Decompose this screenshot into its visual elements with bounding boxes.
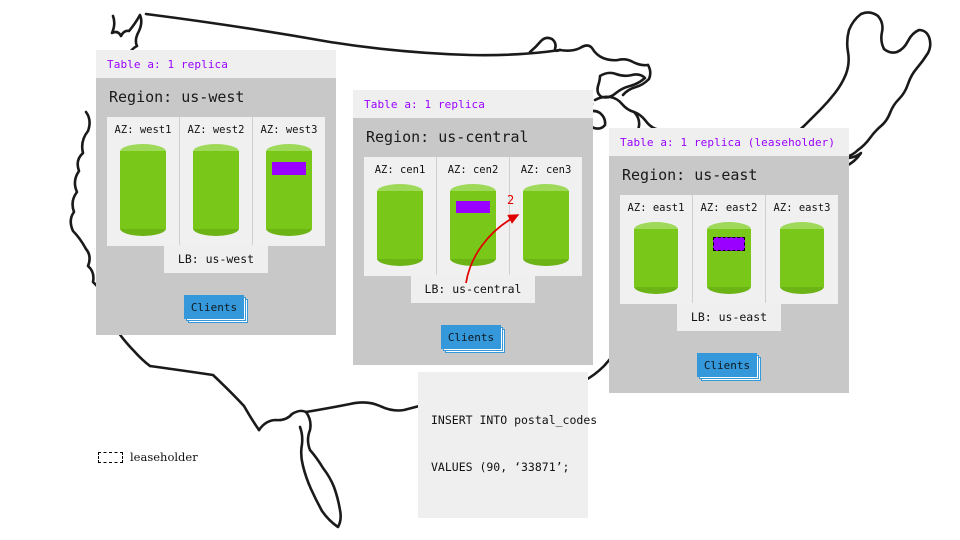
cylinder-body-icon: [193, 151, 239, 229]
leaseholder-swatch-icon: [98, 452, 123, 463]
node-cylinder-cen3[interactable]: [523, 184, 569, 266]
sql-line-2: VALUES (90, ‘33871’;: [431, 460, 575, 476]
sql-statement-box: INSERT INTO postal_codes VALUES (90, ‘33…: [418, 372, 588, 518]
region-body-us-west: Region: us-west AZ: west1 AZ: west2: [96, 78, 336, 335]
clients-wrap-us-east: Clients: [620, 353, 838, 379]
lb-wrap-us-west: LB: us-west: [107, 245, 325, 273]
clients-stack-us-central[interactable]: Clients: [441, 325, 505, 351]
az-cell-west2[interactable]: AZ: west2: [180, 117, 253, 246]
az-label-east3: AZ: east3: [774, 202, 831, 214]
legend-label: leaseholder: [130, 450, 198, 464]
node-cylinder-west2[interactable]: [193, 144, 239, 236]
region-panel-us-central: Table a: 1 replica Region: us-central AZ…: [353, 90, 593, 365]
clients-button-us-central[interactable]: Clients: [441, 325, 501, 349]
lb-wrap-us-east: LB: us-east: [620, 303, 838, 331]
az-label-west1: AZ: west1: [115, 124, 172, 136]
region-body-us-east: Region: us-east AZ: east1 AZ: east2: [609, 156, 849, 393]
az-cell-east1[interactable]: AZ: east1: [620, 195, 693, 304]
cylinder-body-icon: [377, 191, 423, 259]
region-title-us-central: Region: us-central: [366, 128, 582, 146]
region-header-us-west: Table a: 1 replica: [96, 50, 336, 78]
az-label-cen3: AZ: cen3: [521, 164, 572, 176]
az-cell-west3[interactable]: AZ: west3: [253, 117, 325, 246]
leaseholder-marker-east2: [713, 237, 745, 251]
sql-line-1: INSERT INTO postal_codes: [431, 413, 575, 429]
region-panel-us-west: Table a: 1 replica Region: us-west AZ: w…: [96, 50, 336, 335]
az-cell-east2[interactable]: AZ: east2: [693, 195, 766, 304]
table-replica-label-us-west: Table a: 1 replica: [107, 58, 325, 71]
cylinder-body-icon: [780, 229, 824, 287]
table-replica-label-us-east: Table a: 1 replica (leaseholder): [620, 136, 838, 149]
replica-marker-cen2: [456, 201, 489, 213]
az-label-east1: AZ: east1: [628, 202, 685, 214]
replica-marker-west3: [272, 162, 305, 175]
node-cylinder-east2[interactable]: [707, 222, 751, 294]
arrow-step-label: 2: [507, 193, 514, 207]
clients-wrap-us-west: Clients: [107, 295, 325, 321]
node-cylinder-cen2[interactable]: [450, 184, 496, 266]
node-cylinder-west1[interactable]: [120, 144, 166, 236]
clients-button-us-west[interactable]: Clients: [184, 295, 244, 319]
load-balancer-us-west[interactable]: LB: us-west: [164, 245, 268, 273]
legend: leaseholder: [98, 450, 198, 464]
az-cell-west1[interactable]: AZ: west1: [107, 117, 180, 246]
az-label-cen2: AZ: cen2: [448, 164, 499, 176]
clients-button-us-east[interactable]: Clients: [697, 353, 757, 377]
cylinder-body-icon: [634, 229, 678, 287]
lb-wrap-us-central: LB: us-central: [364, 275, 582, 303]
az-label-cen1: AZ: cen1: [375, 164, 426, 176]
region-title-us-east: Region: us-east: [622, 166, 838, 184]
node-cylinder-east1[interactable]: [634, 222, 678, 294]
az-cell-cen2[interactable]: AZ: cen2: [437, 157, 510, 276]
region-title-us-west: Region: us-west: [109, 88, 325, 106]
az-row-us-west: AZ: west1 AZ: west2 AZ: [107, 117, 325, 246]
cylinder-body-icon: [120, 151, 166, 229]
diagram-canvas: Table a: 1 replica Region: us-west AZ: w…: [0, 0, 960, 540]
az-cell-cen1[interactable]: AZ: cen1: [364, 157, 437, 276]
table-replica-label-us-central: Table a: 1 replica: [364, 98, 582, 111]
node-cylinder-east3[interactable]: [780, 222, 824, 294]
clients-stack-us-west[interactable]: Clients: [184, 295, 248, 321]
load-balancer-us-east[interactable]: LB: us-east: [677, 303, 781, 331]
region-header-us-east: Table a: 1 replica (leaseholder): [609, 128, 849, 156]
az-label-west2: AZ: west2: [188, 124, 245, 136]
load-balancer-us-central[interactable]: LB: us-central: [411, 275, 536, 303]
cylinder-body-icon: [523, 191, 569, 259]
az-label-east2: AZ: east2: [701, 202, 758, 214]
az-row-us-central: AZ: cen1 AZ: cen2: [364, 157, 582, 276]
clients-stack-us-east[interactable]: Clients: [697, 353, 761, 379]
az-cell-east3[interactable]: AZ: east3: [766, 195, 838, 304]
clients-wrap-us-central: Clients: [364, 325, 582, 351]
az-row-us-east: AZ: east1 AZ: east2: [620, 195, 838, 304]
region-panel-us-east: Table a: 1 replica (leaseholder) Region:…: [609, 128, 849, 393]
node-cylinder-west3[interactable]: [266, 144, 312, 236]
region-header-us-central: Table a: 1 replica: [353, 90, 593, 118]
az-label-west3: AZ: west3: [261, 124, 318, 136]
az-cell-cen3[interactable]: AZ: cen3: [510, 157, 582, 276]
node-cylinder-cen1[interactable]: [377, 184, 423, 266]
region-body-us-central: Region: us-central AZ: cen1 AZ: cen2: [353, 118, 593, 365]
